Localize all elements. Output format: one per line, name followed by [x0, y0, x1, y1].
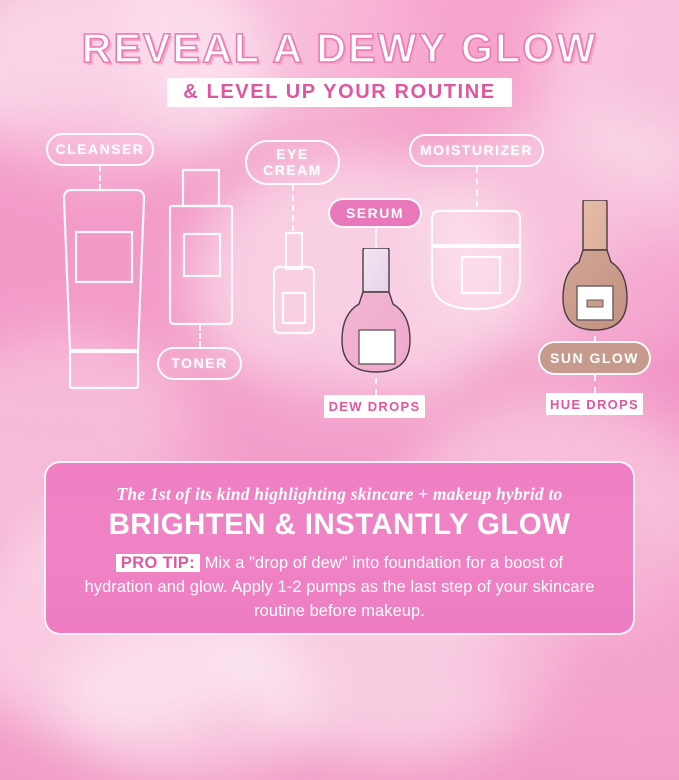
tag-dew-drops[interactable]: DEW DROPS	[324, 395, 425, 418]
label-toner[interactable]: TONER	[157, 347, 242, 380]
label-serum[interactable]: SERUM	[328, 198, 422, 228]
connector-dewdrops	[375, 378, 377, 395]
header-block: REVEAL A DEWY GLOW & LEVEL UP YOUR ROUTI…	[0, 28, 679, 107]
connector-toner	[199, 325, 201, 347]
label-moisturizer[interactable]: MOISTURIZER	[409, 134, 544, 167]
product-cleanser-tube	[50, 186, 158, 392]
label-sun-glow-text: SUN GLOW	[550, 350, 639, 366]
connector-moisturizer	[476, 167, 478, 207]
label-eye-cream[interactable]: EYE CREAM	[245, 140, 340, 185]
info-panel: The 1st of its kind highlighting skincar…	[44, 461, 635, 635]
panel-body: PRO TIP: Mix a "drop of dew" into founda…	[80, 551, 600, 624]
label-toner-text: TONER	[171, 356, 227, 371]
connector-serum	[375, 228, 377, 248]
product-moisturizer-jar	[424, 207, 528, 315]
label-cleanser-text: CLEANSER	[55, 142, 144, 157]
page-subtitle: & LEVEL UP YOUR ROUTINE	[183, 82, 495, 102]
label-cleanser[interactable]: CLEANSER	[46, 133, 154, 166]
label-serum-text: SERUM	[346, 205, 404, 221]
pro-tip-badge: PRO TIP:	[116, 554, 200, 572]
panel-headline: BRIGHTEN & INSTANTLY GLOW	[46, 510, 633, 540]
connector-huedrops	[594, 375, 596, 393]
tag-hue-drops[interactable]: HUE DROPS	[546, 393, 643, 415]
product-dew-drops-bottle	[336, 248, 416, 380]
page-title: REVEAL A DEWY GLOW	[0, 28, 679, 69]
connector-eyecream	[292, 185, 294, 231]
product-eyecream-bottle	[266, 231, 322, 337]
panel-italic-line: The 1st of its kind highlighting skincar…	[46, 484, 633, 505]
product-hue-drops-bottle	[558, 200, 632, 340]
label-eye-cream-text: EYE CREAM	[247, 147, 338, 177]
label-sun-glow[interactable]: SUN GLOW	[538, 341, 651, 375]
tag-dew-drops-text: DEW DROPS	[329, 399, 421, 414]
product-toner-bottle	[158, 168, 244, 328]
tag-hue-drops-text: HUE DROPS	[550, 397, 639, 412]
subtitle-band: & LEVEL UP YOUR ROUTINE	[167, 78, 511, 107]
label-moisturizer-text: MOISTURIZER	[420, 143, 533, 158]
